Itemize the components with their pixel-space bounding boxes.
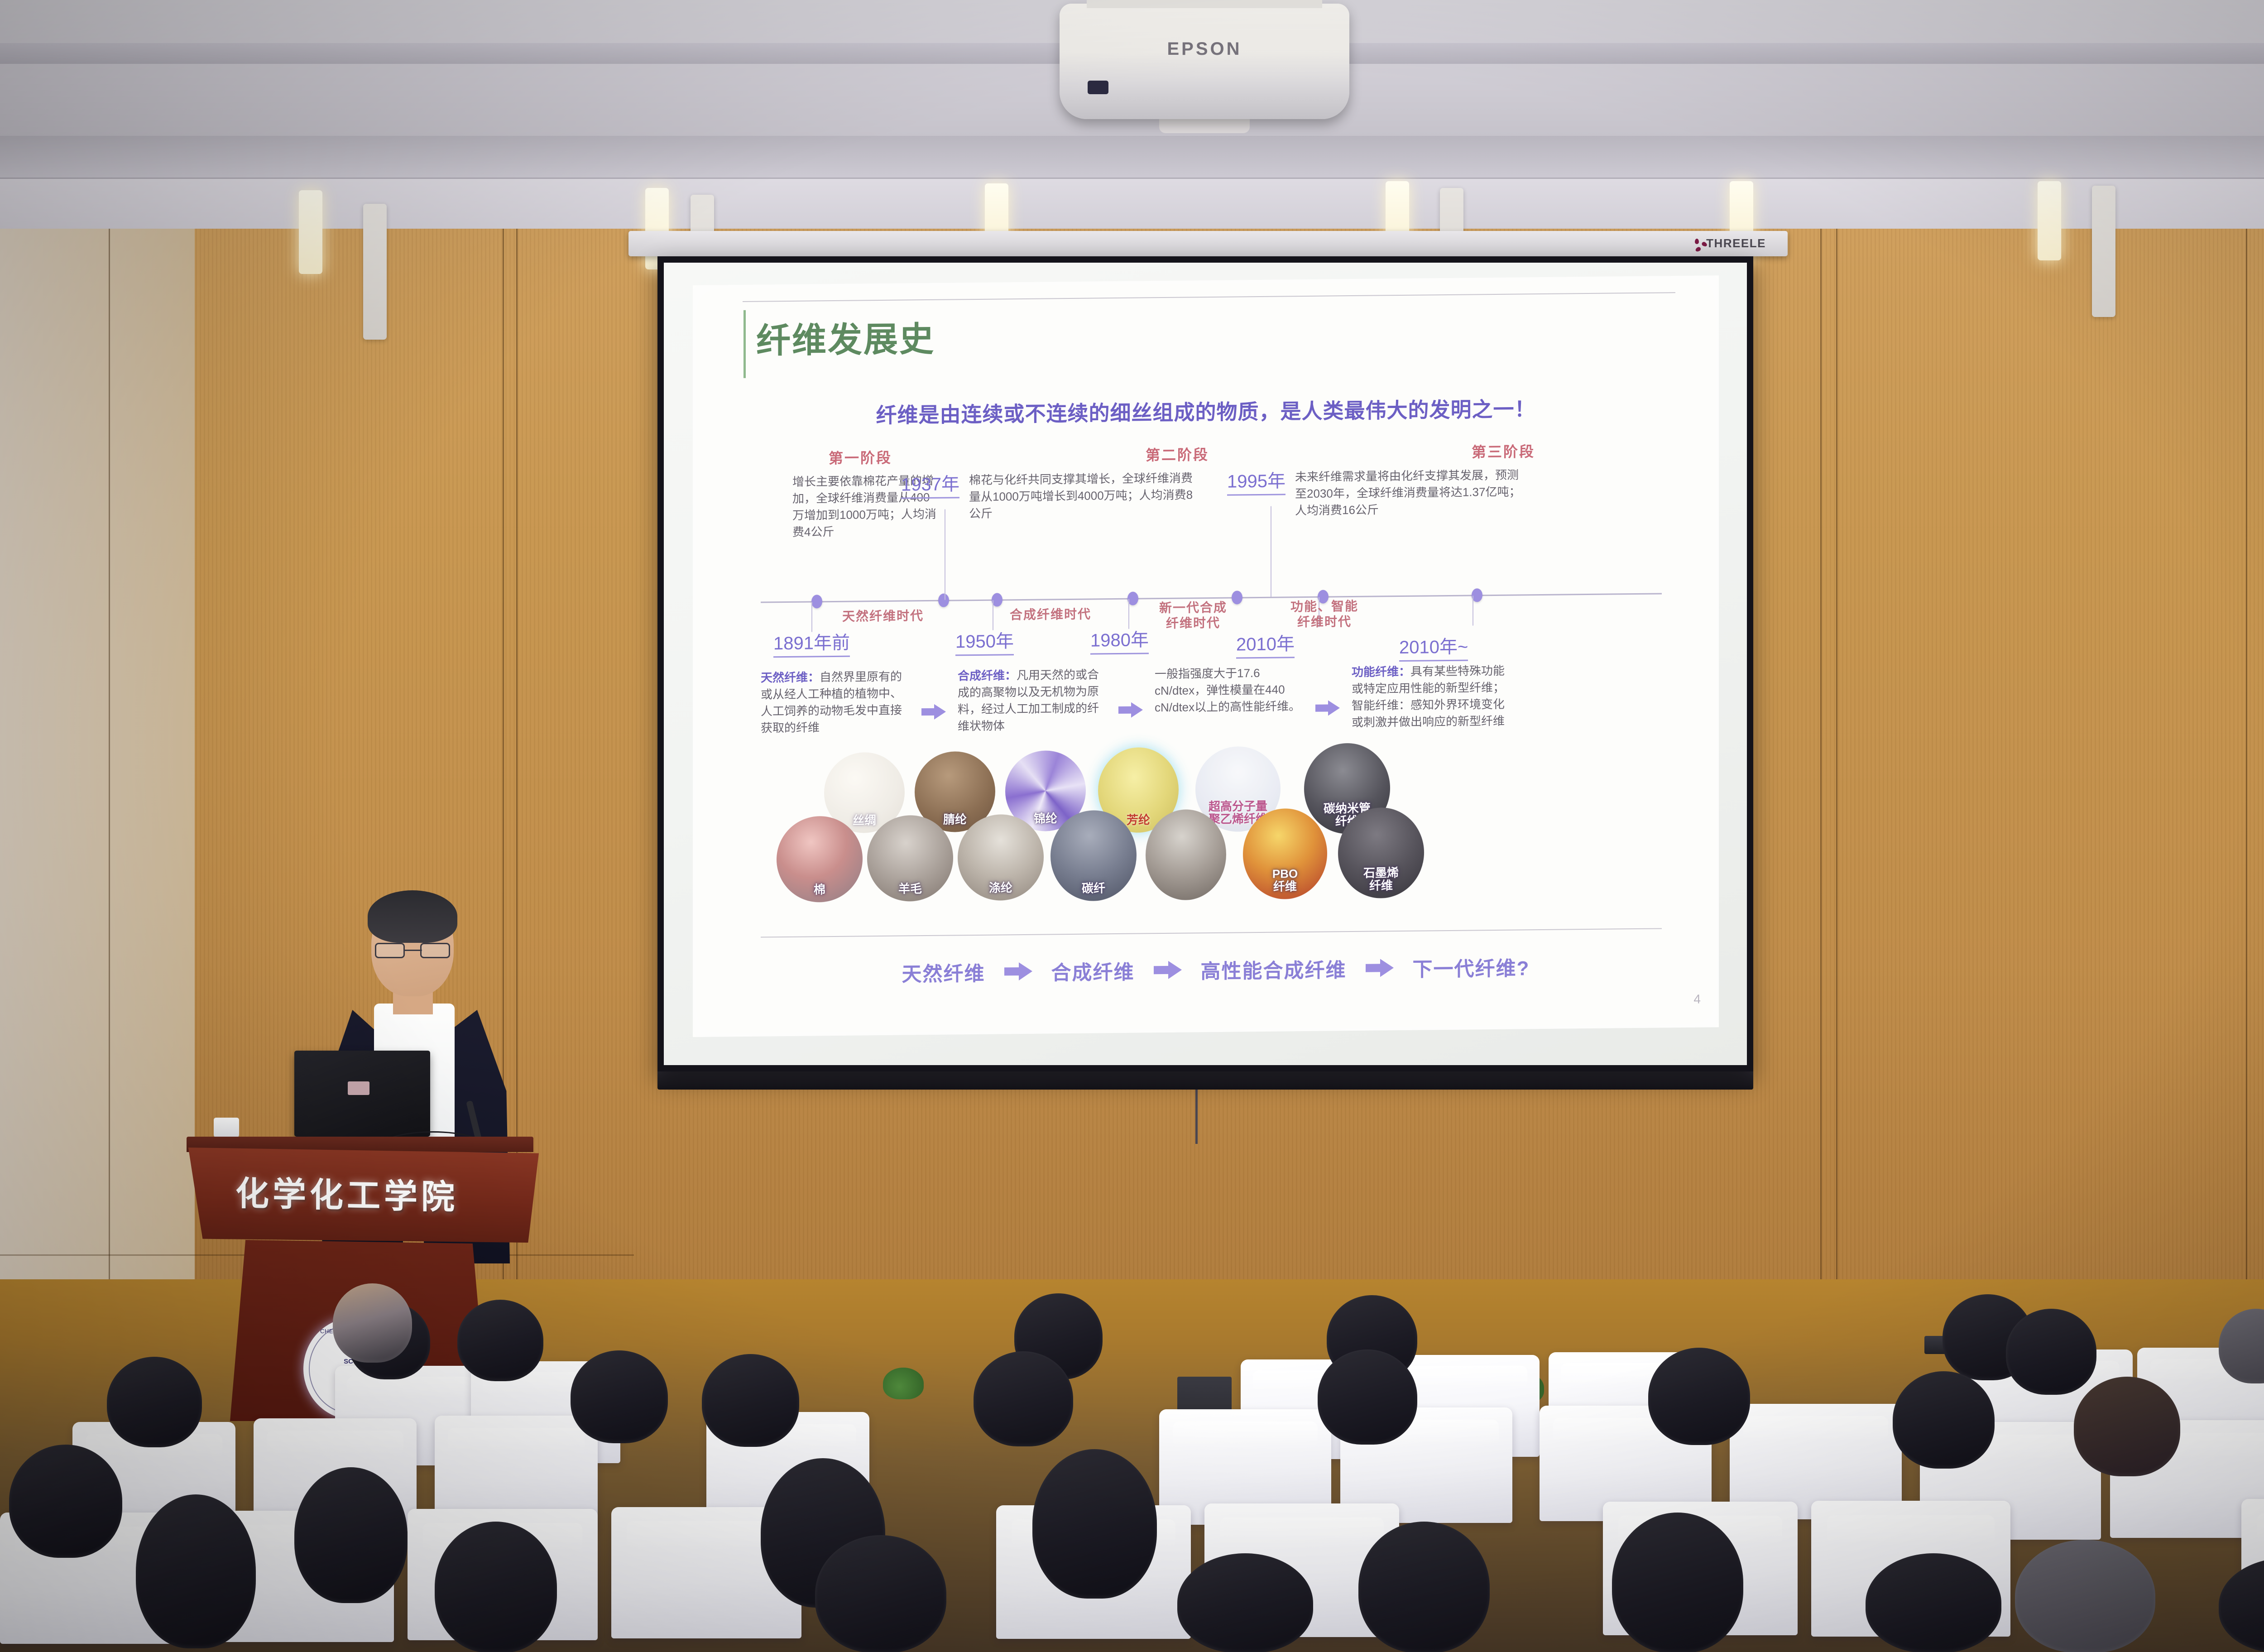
stage-note-3: 未来纤维需求量将由化纤支撑其发展，预测至2030年，全球纤维消费量将达1.37亿… — [1295, 466, 1521, 519]
stage-heading-3: 第三阶段 — [1472, 440, 1535, 461]
era-label-functional: 功能、智能纤维时代 — [1290, 599, 1358, 630]
screen-bottom-bar — [657, 1071, 1753, 1090]
slide-subtitle: 纤维是由连续或不连续的细丝组成的物质，是人类最伟大的发明之一！ — [693, 391, 1719, 431]
audience-head — [815, 1535, 946, 1652]
wall-seam — [109, 229, 110, 1279]
wall-seam — [1836, 229, 1837, 1279]
pendant-lamp — [2038, 181, 2061, 260]
glasses-icon — [375, 943, 450, 958]
wall-seam — [1820, 229, 1822, 1279]
timeline-year-2010plus: 2010年~ — [1399, 632, 1468, 662]
fiber-bubble-wool: 羊毛 — [867, 815, 953, 902]
timeline-year-pre1891: 1891年前 — [773, 628, 850, 658]
definition-synthetic: 合成纤维：凡用天然的或合成的高聚物以及无机物为原料，经过人工加工制成的纤维状物体 — [958, 666, 1107, 735]
stage-heading-1: 第一阶段 — [829, 447, 892, 468]
presentation-slide: 纤维发展史 纤维是由连续或不连续的细丝组成的物质，是人类最伟大的发明之一！ 第一… — [693, 275, 1719, 1037]
definition-highperf: 一般指强度大于17.6 cN/dtex，弹性模量在440 cN/dtex以上的高… — [1155, 664, 1304, 716]
audience-head — [333, 1283, 412, 1363]
timeline-dot — [1232, 591, 1242, 604]
definition-text: 一般指强度大于17.6 cN/dtex，弹性模量在440 cN/dtex以上的高… — [1155, 666, 1300, 714]
audience-head — [571, 1350, 668, 1443]
paper-cup — [214, 1118, 239, 1138]
screen-brand: THREELE — [1692, 236, 1766, 250]
slide-title: 纤维发展史 — [756, 311, 935, 363]
fiber-bubble-pbo: PBO纤维 — [1243, 808, 1327, 900]
audience-head — [9, 1445, 122, 1558]
flow-label-natural: 天然纤维 — [902, 957, 985, 987]
fiber-bubble-graphene: 石墨烯纤维 — [1338, 807, 1424, 898]
fiber-label: 锦纶 — [1034, 812, 1057, 831]
timeline-year-1995: 1995年 — [1227, 466, 1285, 495]
timeline-year-1980: 1980年 — [1090, 625, 1149, 654]
projection-screen: 纤维发展史 纤维是由连续或不连续的细丝组成的物质，是人类最伟大的发明之一！ 第一… — [657, 256, 1753, 1071]
lecture-hall-photo: EPSON THREELE 纤维发展史 纤维是由连续或不连续的 — [0, 0, 2264, 1652]
flow-arrow-icon — [1315, 700, 1340, 716]
flow-arrow-icon — [1366, 959, 1394, 977]
audience-head — [435, 1522, 557, 1652]
fiber-label: 丝绸 — [853, 814, 876, 833]
fiber-label: 碳纤 — [1082, 882, 1105, 901]
title-accent-bar — [743, 310, 746, 378]
audience-head — [974, 1351, 1073, 1446]
audience-head — [457, 1300, 543, 1381]
audience-head — [136, 1494, 256, 1648]
laptop-sticker — [348, 1081, 369, 1095]
screen-pull-cord[interactable] — [1195, 1090, 1198, 1144]
audience-head — [1177, 1553, 1313, 1652]
flow-arrow-icon — [1004, 962, 1032, 981]
flow-label-nextgen: 下一代纤维? — [1413, 952, 1530, 982]
three-diamond-icon — [1692, 239, 1702, 249]
pendant-lamp — [2092, 186, 2115, 317]
timeline-stem — [811, 602, 812, 632]
definition-term: 功能纤维： — [1352, 665, 1410, 679]
fiber-label: 羊毛 — [898, 883, 922, 902]
projector-vent-icon — [1088, 81, 1108, 94]
stage-note-2: 棉花与化纤共同支撑其增长，全球纤维消费量从1000万吨增长到4000万吨；人均消… — [969, 470, 1195, 522]
pendant-lamp — [299, 190, 322, 274]
flow-arrow-icon — [1118, 702, 1143, 718]
audience-head — [1612, 1513, 1743, 1652]
wall-left-panel — [0, 229, 195, 1279]
audience-head — [2219, 1558, 2264, 1652]
fiber-label: 涤纶 — [989, 882, 1012, 901]
audience-head — [1648, 1348, 1750, 1445]
fiber-label: 芳纶 — [1127, 814, 1150, 833]
flow-label-synthetic: 合成纤维 — [1051, 956, 1135, 986]
timeline-stem — [1271, 506, 1271, 597]
hair — [368, 890, 457, 943]
audience-head — [1866, 1553, 2001, 1652]
laptop[interactable] — [294, 1051, 430, 1137]
audience-head — [294, 1467, 408, 1603]
timeline-year-2010: 2010年 — [1236, 629, 1295, 658]
fiber-bubble-polyester: 涤纶 — [958, 814, 1044, 901]
audience-head — [1358, 1522, 1490, 1652]
fiber-bubble-cotton: 棉 — [777, 816, 863, 903]
era-label-natural: 天然纤维时代 — [842, 608, 924, 624]
soffit — [0, 179, 2264, 229]
projector-brand-label: EPSON — [1060, 39, 1349, 59]
definition-term: 合成纤维： — [958, 668, 1017, 682]
lectern-label: 化学化工学院 — [235, 1167, 458, 1219]
audience-head — [1893, 1371, 1995, 1469]
era-label-newgen: 新一代合成纤维时代 — [1159, 600, 1227, 632]
fiber-label: 腈纶 — [943, 813, 967, 832]
definition-term: 天然纤维： — [761, 670, 820, 684]
slide-page-number: 4 — [1693, 992, 1701, 1007]
timeline-stem — [1473, 595, 1473, 625]
timeline-stem — [993, 600, 993, 630]
fiber-bubble-basalt — [1146, 809, 1226, 901]
audience-head — [107, 1357, 202, 1447]
timeline-dot — [811, 595, 822, 608]
fiber-label: 石墨烯纤维 — [1363, 867, 1399, 898]
flow-label-highperf: 高性能合成纤维 — [1201, 954, 1347, 984]
definition-natural: 天然纤维：自然界里原有的或从经人工种植的植物中、人工饲养的动物毛发中直接获取的纤… — [761, 668, 910, 736]
fiber-flow-row: 天然纤维 合成纤维 高性能合成纤维 下一代纤维? — [774, 951, 1657, 989]
slide-top-rule — [743, 292, 1675, 302]
audience-head — [2015, 1540, 2155, 1652]
stage-heading-2: 第二阶段 — [1146, 443, 1209, 465]
screen-brand-label: THREELE — [1706, 236, 1766, 250]
era-label-synthetic: 合成纤维时代 — [1010, 607, 1091, 623]
audience-head — [2006, 1309, 2096, 1395]
audience-head — [1318, 1349, 1417, 1445]
timeline-year-1937: 1937年 — [901, 469, 959, 499]
screen-housing: THREELE — [628, 231, 1788, 256]
flow-arrow-icon — [921, 704, 946, 720]
wall-seam — [2246, 229, 2247, 1279]
audience-head — [2074, 1377, 2180, 1476]
wall-seam — [516, 229, 518, 1279]
fiber-label: PBO纤维 — [1272, 868, 1298, 899]
definition-functional: 功能纤维：具有某些特殊功能或特定应用性能的新型纤维；智能纤维：感知外界环境变化或… — [1352, 663, 1515, 731]
audience-head — [1032, 1449, 1157, 1599]
timeline-year-1950: 1950年 — [955, 626, 1014, 656]
projector: EPSON — [1060, 4, 1349, 119]
slide-bottom-rule — [761, 928, 1662, 937]
fiber-bubble-carbon: 碳纤 — [1050, 810, 1137, 902]
timeline-stem — [945, 509, 945, 600]
ceiling-band — [0, 136, 2264, 179]
fiber-label: 棉 — [814, 884, 825, 903]
pendant-lamp — [363, 204, 387, 340]
audience-head — [702, 1354, 799, 1447]
audience-area — [0, 1241, 2264, 1652]
flow-arrow-icon — [1154, 961, 1182, 980]
timeline-stem — [1128, 599, 1129, 629]
timeline-dot — [938, 594, 949, 607]
